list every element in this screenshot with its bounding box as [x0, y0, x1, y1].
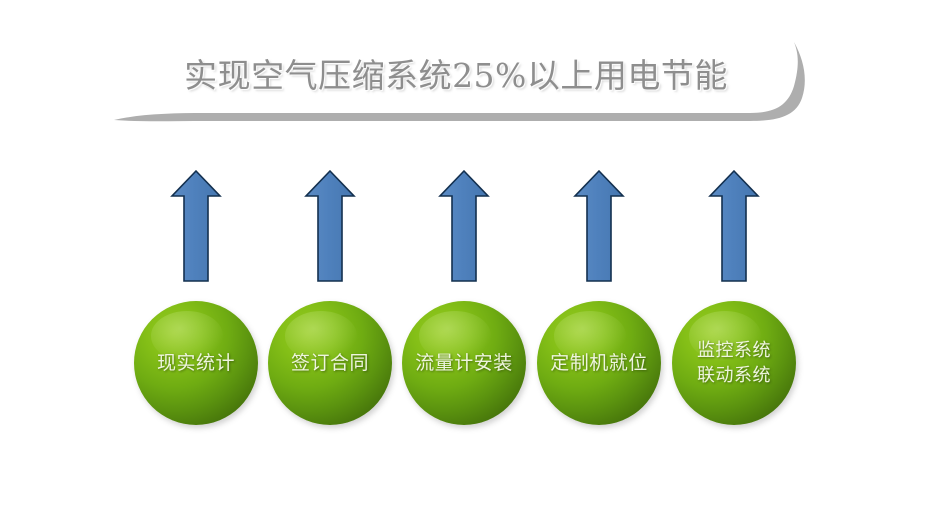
up-arrow-5	[708, 168, 760, 284]
process-node-3[interactable]: 流量计安装	[402, 301, 526, 425]
page-title: 实现空气压缩系统25%以上用电节能	[156, 42, 756, 104]
process-node-5-label: 监控系统 联动系统	[693, 338, 775, 388]
up-arrow-1	[170, 168, 222, 284]
arrow-row	[0, 168, 945, 288]
title-banner: 实现空气压缩系统25%以上用电节能	[110, 34, 810, 134]
process-node-2-label: 签订合同	[287, 351, 373, 375]
slide-canvas: 实现空气压缩系统25%以上用电节能	[0, 0, 945, 529]
process-node-4[interactable]: 定制机就位	[537, 301, 661, 425]
up-arrow-4	[573, 168, 625, 284]
process-node-5[interactable]: 监控系统 联动系统	[672, 301, 796, 425]
process-node-row: 现实统计 签订合同 流量计安装 定制机就位 监控系统 联动系统	[0, 301, 945, 431]
up-arrow-2	[304, 168, 356, 284]
process-node-1[interactable]: 现实统计	[134, 301, 258, 425]
process-node-3-label: 流量计安装	[411, 351, 517, 375]
process-node-1-label: 现实统计	[153, 351, 239, 375]
up-arrow-3	[438, 168, 490, 284]
process-node-2[interactable]: 签订合同	[268, 301, 392, 425]
process-node-4-label: 定制机就位	[546, 351, 652, 375]
